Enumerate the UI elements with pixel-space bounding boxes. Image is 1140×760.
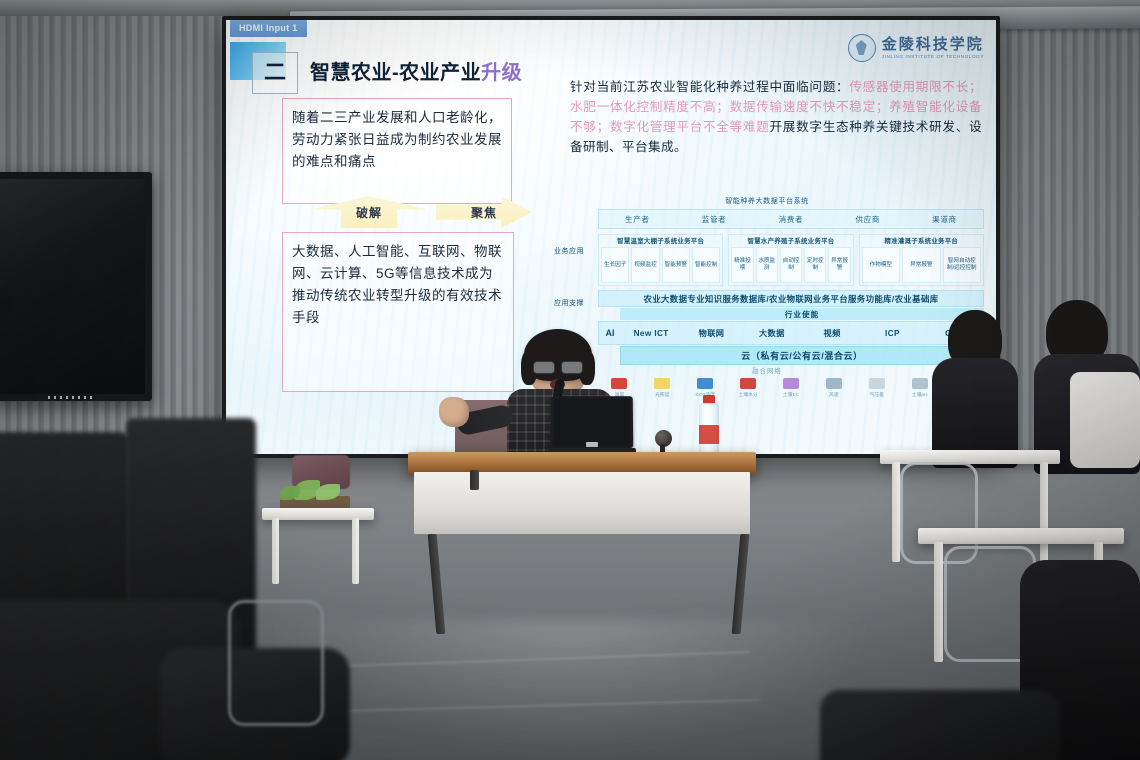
sensor-icon-row: 温度 光照度 CO2浓度 土壤水分 土壤EC 风速 气压差 土壤pH 环境气象 (598, 378, 984, 408)
sensor-label: 土壤水分 (739, 391, 758, 398)
left-textbox-technology: 大数据、人工智能、互联网、物联网、云计算、5G等信息技术成为推动传统农业转型升级… (282, 232, 514, 392)
business-group-title: 智慧温室大棚子系统业务平台 (599, 236, 722, 245)
sensor-label: 土壤EC (783, 391, 799, 398)
diagram-roles-row: 生产者 监管者 消费者 供应商 渠道商 (598, 209, 984, 229)
sensor-label: 光照度 (655, 391, 669, 398)
enable-item: 大数据 (742, 327, 802, 339)
organization-logo: 金陵科技学院 JINLING INSTITUTE OF TECHNOLOGY (848, 34, 984, 62)
business-group-cells: 精准投喂 水质监测 自动控制 定时控制 异常报警 (729, 246, 852, 284)
business-group: 精准灌溉子系统业务平台 作物模型 异常报警 智网自动控制/远控控制 (859, 234, 984, 286)
enable-item: ICP (862, 329, 922, 338)
student-desk (880, 450, 1060, 464)
arrow-up-breakthrough: 破解 (310, 196, 428, 228)
lecturer-desk-top (408, 452, 756, 474)
side-table-leg (352, 518, 359, 584)
side-display[interactable] (0, 172, 152, 401)
cloud-layer: 云（私有云/公有云/混合云） (620, 346, 984, 365)
business-group-cells: 作物模型 异常报警 智网自动控制/远控控制 (860, 246, 983, 284)
lecturer-desk-front (414, 472, 750, 534)
student-torso (1070, 372, 1140, 468)
role-item: 监管者 (676, 210, 753, 228)
business-cell: 异常报警 (828, 247, 850, 283)
enable-header: 行业使能 (620, 308, 984, 320)
student-desk (918, 528, 1124, 544)
business-cell: 智能控制 (692, 247, 720, 283)
light-sensor-icon (654, 378, 670, 389)
business-application-layer: 智慧温室大棚子系统业务平台 生长因子 视频监控 智能预警 智能控制 智慧水产养殖… (598, 234, 984, 286)
lecturer-desk-leg (470, 470, 479, 490)
business-cell: 定时控制 (804, 247, 826, 283)
business-cell: 精准投喂 (731, 247, 753, 283)
sensor-label: 风速 (829, 391, 839, 398)
business-cell: 水质监测 (756, 247, 778, 283)
enable-row: AI New ICT 物联网 大数据 视频 ICP GIS (598, 321, 984, 345)
water-bottle[interactable] (698, 395, 720, 457)
role-item: 消费者 (753, 210, 830, 228)
sensor-item: 土壤水分 (727, 378, 770, 408)
diagram-title: 智能种养大数据平台系统 (544, 196, 990, 206)
business-group: 智慧温室大棚子系统业务平台 生长因子 视频监控 智能预警 智能控制 (598, 234, 723, 286)
enable-item: New ICT (621, 329, 681, 338)
ph-sensor-icon (912, 378, 928, 389)
arrow-right-label: 聚焦 (436, 204, 532, 221)
slide-title: 智慧农业-农业产业升级 (310, 56, 522, 85)
business-group: 智慧水产养殖子系统业务平台 精准投喂 水质监测 自动控制 定时控制 异常报警 (728, 234, 853, 286)
business-cell: 自动控制 (780, 247, 802, 283)
sensor-item: 土壤EC (770, 378, 813, 408)
role-item: 渠道商 (906, 210, 983, 228)
role-item: 供应商 (829, 210, 906, 228)
student-desk-leg (892, 462, 900, 562)
hdmi-input-badge: HDMI Input 1 (230, 20, 307, 37)
section-number-box: 二 (252, 52, 298, 94)
sensor-label: 气压差 (870, 391, 884, 398)
co2-sensor-icon (697, 378, 713, 389)
enable-item: 视频 (802, 327, 862, 339)
enable-items: New ICT 物联网 大数据 视频 ICP GIS (621, 327, 983, 339)
business-group-cells: 生长因子 视频监控 智能预警 智能控制 (599, 246, 722, 284)
organization-name-cn: 金陵科技学院 (882, 37, 984, 52)
business-cell: 生长因子 (601, 247, 629, 283)
business-cell: 作物模型 (862, 247, 900, 283)
organization-names: 金陵科技学院 JINLING INSTITUTE OF TECHNOLOGY (882, 37, 984, 60)
sensor-label: 土壤pH (912, 391, 928, 398)
business-cell: 智能预警 (662, 247, 690, 283)
organization-name-en: JINLING INSTITUTE OF TECHNOLOGY (882, 55, 984, 60)
layer-label-support: 应用支撑 (544, 300, 594, 309)
sensor-item: 光照度 (641, 378, 684, 408)
wind-speed-sensor-icon (826, 378, 842, 389)
soil-ec-sensor-icon (783, 378, 799, 389)
student (1070, 372, 1140, 468)
role-item: 生产者 (599, 210, 676, 228)
business-cell: 智网自动控制/远控控制 (943, 247, 981, 283)
presenter-glasses (533, 361, 583, 372)
student-desk-leg (934, 542, 943, 662)
slide-title-highlight: 升级 (481, 62, 522, 84)
sensor-item: 气压差 (855, 378, 898, 408)
side-table-leg (272, 518, 279, 584)
student-desk-leg (1040, 462, 1048, 562)
left-textbox-challenge: 随着二三产业发展和人口老龄化，劳动力紧张日益成为制约农业发展的难点和痛点 (282, 98, 512, 204)
floor-reflection (260, 620, 880, 760)
presenter-hand (439, 397, 469, 427)
bottle-label (699, 425, 719, 444)
student (932, 310, 1018, 460)
presenter-laptop[interactable] (548, 396, 636, 456)
laptop-logo (586, 442, 598, 447)
side-display-indicator (48, 396, 94, 399)
side-display-screen (0, 179, 145, 394)
business-cell: 异常报警 (902, 247, 940, 283)
business-cell: 视频监控 (631, 247, 659, 283)
foreground-chair (820, 690, 1060, 760)
paragraph-lead: 针对当前江苏农业智能化种养过程中面临问题： (570, 80, 849, 94)
database-bar: 农业大数据专业知识服务数据库/农业物联网业务平台服务功能库/农业基础库 (598, 290, 984, 307)
soil-moisture-sensor-icon (740, 378, 756, 389)
arrow-up-label: 破解 (310, 204, 428, 221)
classroom-scene: HDMI Input 1 二 智慧农业-农业产业升级 金陵科技学院 JINLIN… (0, 0, 1140, 760)
pressure-sensor-icon (869, 378, 885, 389)
business-group-title: 智慧水产养殖子系统业务平台 (729, 236, 852, 245)
business-group-title: 精准灌溉子系统业务平台 (860, 236, 983, 245)
layer-label-business: 业务应用 (544, 248, 594, 257)
section-number: 二 (264, 62, 286, 84)
laptop-lid (551, 396, 634, 448)
right-paragraph: 针对当前江苏农业智能化种养过程中面临问题：传感器使用期限不长；水肥一体化控制精度… (570, 78, 982, 158)
slide-title-main: 智慧农业-农业产业 (310, 62, 481, 84)
foreground-chair-frame (228, 600, 324, 726)
sensor-item: 风速 (812, 378, 855, 408)
arrow-right-focus: 聚焦 (436, 196, 532, 228)
enable-item: 物联网 (681, 327, 741, 339)
institute-emblem-icon (848, 34, 876, 62)
handheld-microphone[interactable] (655, 430, 672, 447)
